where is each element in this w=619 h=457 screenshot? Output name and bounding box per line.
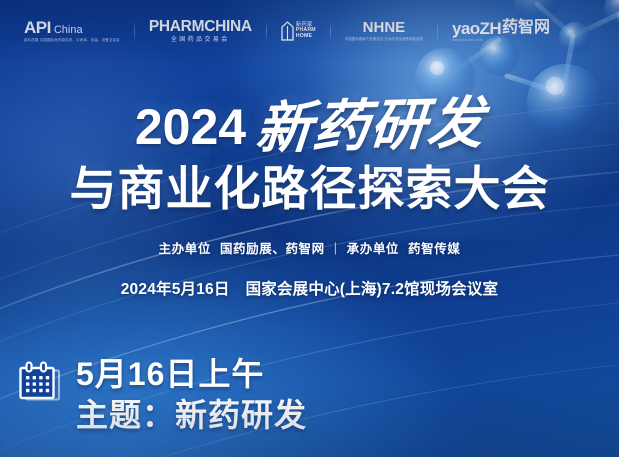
title-line-2: 与商业化路径探索大会 (0, 164, 619, 215)
logo-pharmchina[interactable]: PHARMCHINA 全国药品交易会 (149, 19, 252, 43)
logo-divider (134, 20, 135, 42)
logo-pharm-home[interactable]: 新药家 PHARM HOME (281, 21, 316, 41)
api-china-subword: China (54, 25, 83, 36)
logo-yaozh[interactable]: yaoZH 药智网 www.yaozh.com (452, 20, 550, 43)
pharmchina-wordmark: PHARMCHINA (149, 19, 252, 35)
logo-divider (266, 20, 267, 42)
pharmchina-tagline: 全国药品交易会 (171, 37, 230, 43)
title-calligraphy: 新药研发 (254, 96, 487, 158)
calendar-icon (18, 361, 62, 403)
logo-divider (437, 20, 438, 42)
api-china-wordmark: API (24, 19, 51, 36)
event-date: 2024年5月16日 (121, 277, 230, 299)
house-icon (281, 21, 294, 41)
organizer-row: 主办单位 国药励展、药智网 | 承办单位 药智传媒 (0, 238, 619, 257)
session-banner: 5月16日上午 主题：新药研发 (18, 355, 307, 435)
yaozh-url: www.yaozh.com (452, 39, 483, 43)
organizer-divider: | (334, 241, 338, 255)
nhne-wordmark: NHNE (363, 20, 406, 35)
title-line-1: 2024 新药研发 (0, 96, 619, 158)
event-venue: 国家会展中心(上海)7.2馆现场会议室 (246, 277, 499, 299)
date-venue-row: 2024年5月16日 国家会展中心(上海)7.2馆现场会议室 (0, 277, 619, 299)
logo-api-china[interactable]: API China 原料药展 中国国际医药原料药、中间体、包装、设备交易会 (24, 19, 120, 42)
sponsor-logo-strip: API China 原料药展 中国国际医药原料药、中间体、包装、设备交易会 PH… (0, 0, 619, 62)
session-time: 5月16日上午 (76, 355, 307, 394)
coorganizer-value: 药智传媒 (408, 238, 460, 257)
logo-divider (330, 20, 331, 42)
session-topic: 主题：新药研发 (76, 396, 307, 435)
nhne-tagline: 中国国际健康产品展览会·亚洲天然及营养保健品展 (345, 38, 423, 41)
host-value: 国药励展、药智网 (220, 238, 325, 257)
yaozh-wordmark-cn: 药智网 (502, 20, 550, 36)
host-label: 主办单位 (159, 238, 211, 257)
api-china-tagline: 原料药展 中国国际医药原料药、中间体、包装、设备交易会 (24, 39, 120, 42)
title-year: 2024 (135, 102, 246, 152)
conference-poster: API China 原料药展 中国国际医药原料药、中间体、包装、设备交易会 PH… (0, 0, 619, 457)
logo-nhne[interactable]: NHNE 中国国际健康产品展览会·亚洲天然及营养保健品展 (345, 20, 423, 41)
yaozh-wordmark-en: yaoZH (452, 20, 501, 37)
poster-title-block: 2024 新药研发 与商业化路径探索大会 (0, 96, 619, 215)
pharm-home-en-line2: HOME (296, 34, 316, 39)
coorganizer-label: 承办单位 (347, 238, 399, 257)
